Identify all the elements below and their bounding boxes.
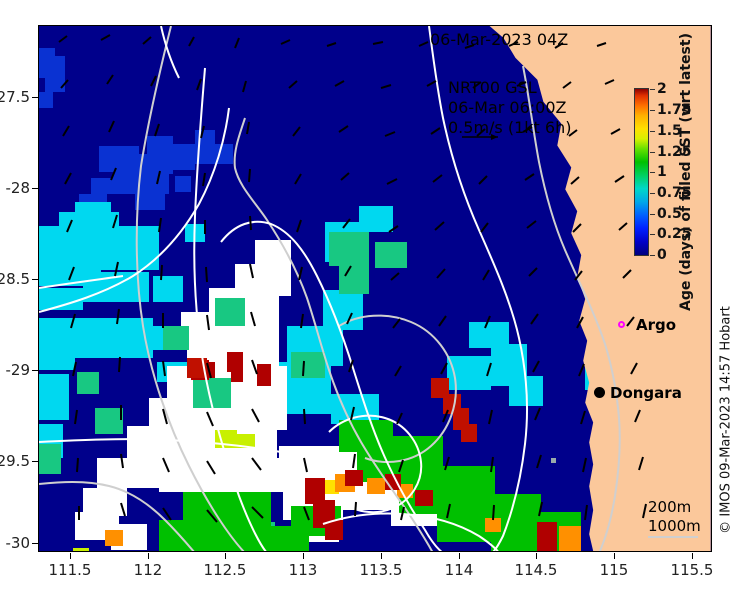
- colorbar-tick: [650, 89, 655, 90]
- x-tick-label: 114.5: [515, 561, 558, 579]
- model-info-annotation: NRT00 GSL 06-Mar 06:00Z 0.5m/s (1kt 6h): [448, 78, 571, 138]
- x-tick: [459, 553, 460, 559]
- velocity-scale-arrow: [460, 132, 506, 142]
- x-tick-label: 112.5: [204, 561, 247, 579]
- y-tick: [32, 370, 38, 371]
- colorbar-tick: [650, 234, 655, 235]
- depth-deep-label: 1000m: [648, 517, 701, 536]
- y-tick: [32, 461, 38, 462]
- y-tick: [32, 279, 38, 280]
- x-tick: [381, 553, 382, 559]
- colorbar[interactable]: [634, 88, 649, 256]
- y-tick-label: -27.5: [0, 88, 30, 106]
- depth-key-line: [648, 536, 698, 538]
- x-tick: [303, 553, 304, 559]
- figure-canvas: 111.5 112 112.5 113 113.5 114 114.5 115 …: [0, 0, 740, 592]
- y-tick-label: -29.5: [0, 452, 30, 470]
- depth-shallow-label: 200m: [648, 498, 701, 517]
- y-tick: [32, 543, 38, 544]
- y-tick-label: -28.5: [0, 270, 30, 288]
- colorbar-label: 2: [657, 81, 667, 97]
- dongara-marker-icon: [594, 387, 605, 398]
- x-tick-label: 115.5: [671, 561, 714, 579]
- colorbar-tick: [650, 172, 655, 173]
- map-plot-area[interactable]: [38, 25, 712, 552]
- dongara-label: Dongara: [610, 384, 682, 402]
- colorbar-label: 1: [657, 164, 667, 180]
- colorbar-tick: [650, 152, 655, 153]
- timestamp-annotation: 06-Mar-2023 04Z: [430, 30, 568, 49]
- x-tick-label: 114: [445, 561, 474, 579]
- y-tick-label: -28: [6, 179, 31, 197]
- x-tick-label: 112: [134, 561, 163, 579]
- x-tick: [614, 553, 615, 559]
- colorbar-tick: [650, 110, 655, 111]
- colorbar-gradient: [635, 89, 648, 255]
- x-tick: [70, 553, 71, 559]
- x-tick-label: 113.5: [360, 561, 403, 579]
- x-tick-label: 111.5: [49, 561, 92, 579]
- colorbar-tick: [650, 214, 655, 215]
- x-tick-label: 115: [600, 561, 629, 579]
- argo-legend-label: Argo: [636, 316, 676, 334]
- colorbar-label: 0: [657, 247, 667, 263]
- colorbar-title: Age (days) of filled SST (wrt latest): [678, 33, 694, 311]
- y-tick: [32, 97, 38, 98]
- map-point-marker: [551, 458, 556, 463]
- copyright-text: © IMOS 09-Mar-2023 14:57 Hobart: [719, 306, 734, 534]
- colorbar-tick: [650, 131, 655, 132]
- argo-marker-icon: [618, 321, 625, 328]
- x-tick: [225, 553, 226, 559]
- y-tick-label: -30: [6, 534, 31, 552]
- x-tick-label: 113: [289, 561, 318, 579]
- current-vector-field: [39, 26, 712, 552]
- x-tick: [148, 553, 149, 559]
- colorbar-tick: [650, 193, 655, 194]
- depth-contour-key: 200m 1000m: [648, 498, 701, 536]
- x-tick: [692, 553, 693, 559]
- y-tick: [32, 188, 38, 189]
- y-tick-label: -29: [6, 361, 31, 379]
- colorbar-tick: [650, 255, 655, 256]
- x-tick: [536, 553, 537, 559]
